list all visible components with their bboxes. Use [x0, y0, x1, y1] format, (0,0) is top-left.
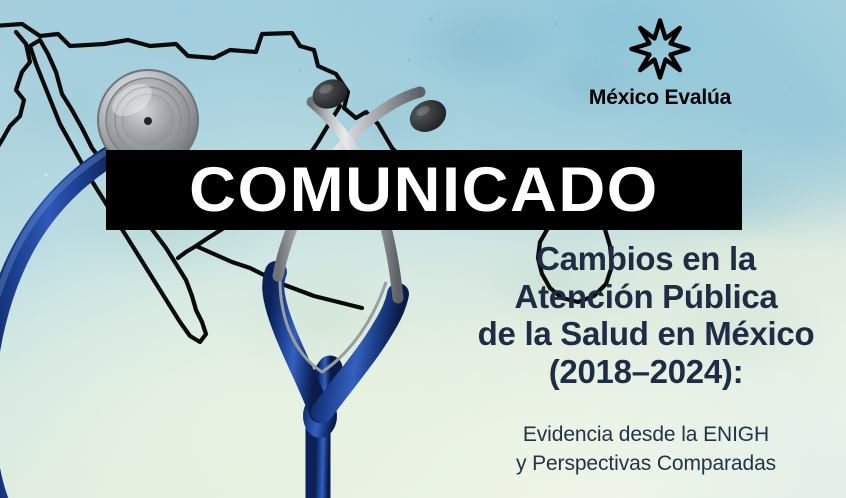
mexico-evalua-logo: México Evalúa [560, 18, 760, 110]
subtitle-line-1: Evidencia desde la ENIGH [446, 420, 846, 449]
poster-subtitle: Evidencia desde la ENIGH y Perspectivas … [446, 420, 846, 479]
title-line-4: (2018–2024): [446, 353, 846, 391]
comunicado-banner: COMUNICADO [106, 150, 742, 230]
title-line-2: Atención Pública [446, 278, 846, 316]
title-line-1: Cambios en la [446, 240, 846, 278]
mexico-evalua-logo-name: México Evalúa [560, 86, 760, 110]
title-line-3: de la Salud en México [446, 315, 846, 353]
poster-canvas: COMUNICADO México Evalúa Cambios en la A… [0, 0, 846, 498]
subtitle-line-2: y Perspectivas Comparadas [446, 449, 846, 478]
comunicado-banner-label: COMUNICADO [189, 159, 659, 222]
eight-pointed-star-icon [629, 18, 691, 80]
poster-title: Cambios en la Atención Pública de la Sal… [446, 240, 846, 390]
